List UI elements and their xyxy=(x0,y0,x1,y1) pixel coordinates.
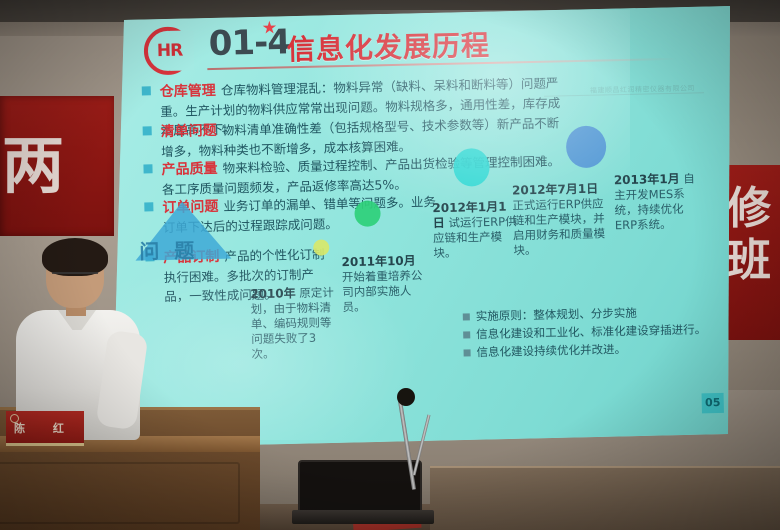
principle-1: 实施原则：整体规划、分步实施 xyxy=(463,305,637,325)
bullet-square-icon xyxy=(463,313,470,320)
bullet-square-icon xyxy=(463,331,470,338)
timeline-text: 开始着重培养公司内部实施人员。 xyxy=(342,268,423,314)
bullet-square-icon xyxy=(464,349,471,356)
bullet-label: 仓库管理 xyxy=(160,83,216,100)
timeline-date: 2011年10月 xyxy=(341,254,415,270)
hr-logo-text: HR xyxy=(157,41,183,62)
timeline-text: 正式运行ERP供应链和生产模块，并启用财务和质量模块。 xyxy=(512,196,605,257)
principle-3: 信息化建设持续优化并改进。 xyxy=(463,341,626,361)
circle-yellow-icon xyxy=(313,239,329,255)
name-placard: 陈 红 xyxy=(6,411,84,446)
timeline-text: 试运行ERP供应链和生产模块。 xyxy=(433,214,517,260)
circle-blue-icon xyxy=(566,125,607,168)
bullet-label: 清单问题 xyxy=(161,123,217,140)
timeline-2013: 2013年1月 自主开发MES系统，持续优化ERP系统。 xyxy=(614,171,701,233)
podium-panel xyxy=(0,462,240,524)
timeline-date: 2010年 xyxy=(250,286,296,301)
page-number-badge: 05 xyxy=(702,393,724,413)
principle-2: 信息化建设和工业化、标准化建设穿插进行。 xyxy=(463,321,706,342)
presentation-slide: HR 01-4 信息化发展历程 福建顺昌红润精密仪器有限公司 仓库管理 仓库物料… xyxy=(118,0,739,444)
laptop xyxy=(292,460,442,530)
timeline-date: 2012年7月1日 xyxy=(512,182,598,198)
presenter-glasses xyxy=(52,272,98,285)
timeline-2010: 2010年 原定计划，由于物料清单、编码规则等问题失败了3次。 xyxy=(250,285,338,362)
conference-table xyxy=(430,468,780,530)
presenter-hair xyxy=(42,238,108,276)
problem-triangle-label: 问 题 xyxy=(139,234,199,264)
presenter xyxy=(18,244,138,434)
microphone-head xyxy=(397,388,415,406)
bullet-square-icon xyxy=(142,86,151,95)
conference-room-scene: 两化融 修班 HR 01-4 信息化发展历程 福建顺昌红润精密仪器有限公司 仓库… xyxy=(0,0,780,530)
placard-text: 陈 红 xyxy=(14,420,76,436)
laptop-screen xyxy=(298,460,422,512)
slide-number: 01-4 xyxy=(208,22,290,64)
banner-left: 两化融 xyxy=(0,96,114,236)
laptop-base xyxy=(292,510,434,524)
timeline-date: 2013年1月 xyxy=(614,172,680,187)
hr-logo-icon: HR xyxy=(143,26,196,79)
bullet-text: 物来料检验、质量过程控制、产品出货检验等管理控制困难。各工序质量问题频发，产品返… xyxy=(162,153,560,197)
bullet-label: 产品质量 xyxy=(161,161,217,178)
timeline-2012-jan: 2012年1月1日 试运行ERP供应链和生产模块。 xyxy=(432,199,519,261)
bullet-square-icon xyxy=(143,126,152,135)
timeline-2012-jul: 2012年7月1日 正式运行ERP供应链和生产模块，并启用财务和质量模块。 xyxy=(512,181,606,258)
timeline-2011: 2011年10月 开始着重培养公司内部实施人员。 xyxy=(341,253,428,315)
company-watermark: 福建顺昌红润精密仪器有限公司 xyxy=(590,83,695,95)
bullet-quality: 产品质量 物来料检验、质量过程控制、产品出货检验等管理控制困难。各工序质量问题频… xyxy=(143,150,564,198)
bullet-square-icon xyxy=(143,164,152,173)
